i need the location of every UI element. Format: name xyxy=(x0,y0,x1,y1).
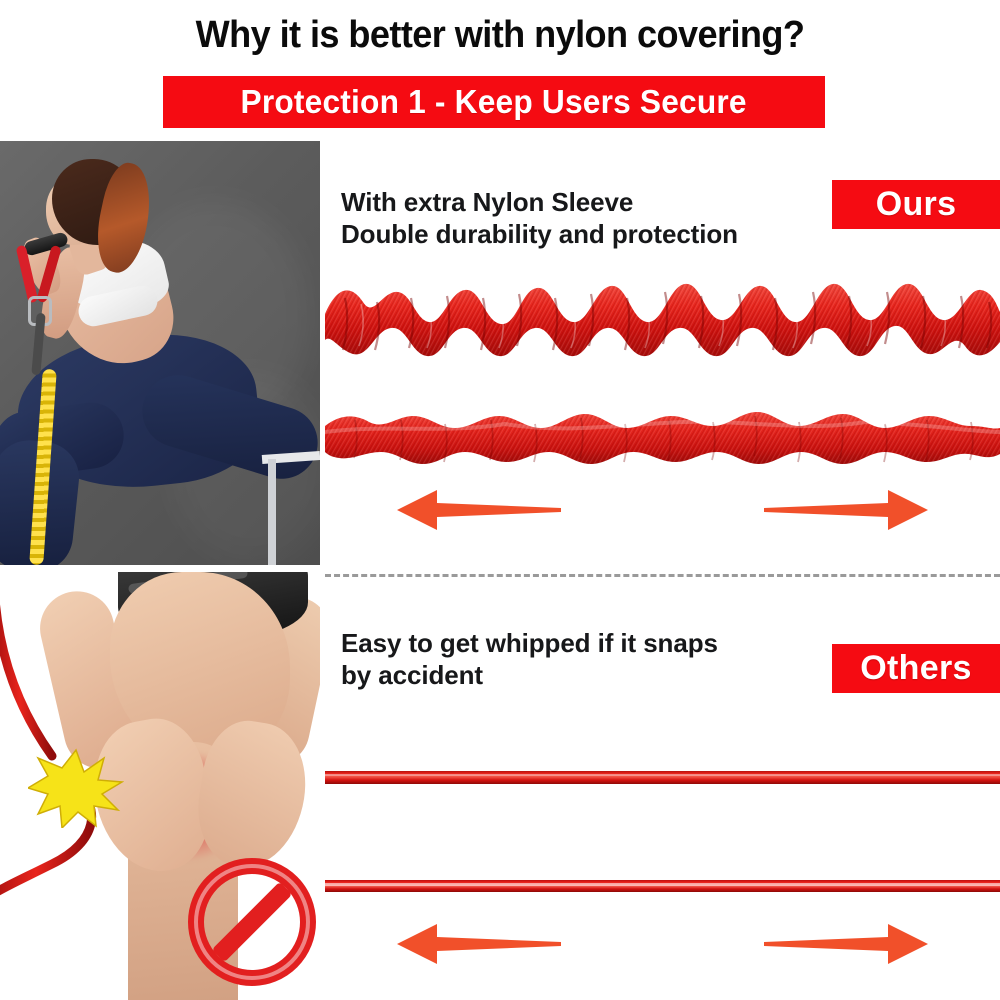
badge-label-ours: Ours xyxy=(876,185,957,224)
page-title: Why it is better with nylon covering? xyxy=(25,14,975,56)
protection-banner: Protection 1 - Keep Users Secure xyxy=(163,76,825,128)
stretch-arrows-others xyxy=(325,918,1000,970)
band-upper-segment xyxy=(0,582,52,756)
stretch-arrow-right-shape xyxy=(764,490,928,530)
rubber-tube-body xyxy=(325,771,1000,784)
badge-label-others: Others xyxy=(860,649,971,688)
rubber-tube-gloss xyxy=(325,774,1000,776)
stretch-arrow-left-shape xyxy=(397,924,561,964)
stretch-arrow-right-shape xyxy=(764,924,928,964)
rubber-tube-gloss xyxy=(325,883,1000,886)
burst-shape xyxy=(28,750,122,828)
bench-leg xyxy=(268,459,276,565)
snapped-red-band xyxy=(0,580,140,910)
prohibition-bar xyxy=(212,882,293,963)
band-others-plain-glossy xyxy=(325,872,1000,898)
dashed-divider xyxy=(325,574,1000,577)
protection-banner-label: Protection 1 - Keep Users Secure xyxy=(241,83,747,121)
photo-woman-training-with-nylon-band xyxy=(0,141,320,565)
band-ours-stretched xyxy=(325,398,1000,476)
status-badge-others: Others xyxy=(832,644,1000,693)
stretch-arrow-left-shape xyxy=(397,490,561,530)
status-badge-ours: Ours xyxy=(832,180,1000,229)
band-ours-relaxed xyxy=(325,268,1000,370)
impact-burst-icon xyxy=(28,748,124,828)
stretch-arrows-ours xyxy=(325,484,1000,536)
nylon-weave-texture xyxy=(325,284,1000,356)
ours-caption: With extra Nylon Sleeve Double durabilit… xyxy=(341,186,738,250)
infographic-page: Why it is better with nylon covering? Pr… xyxy=(0,0,1000,1000)
band-others-plain xyxy=(325,764,1000,790)
others-caption: Easy to get whipped if it snaps by accid… xyxy=(341,627,718,691)
nylon-weave-texture xyxy=(325,412,1000,464)
photo-injured-knee xyxy=(0,572,320,1000)
no-entry-icon xyxy=(186,856,318,988)
